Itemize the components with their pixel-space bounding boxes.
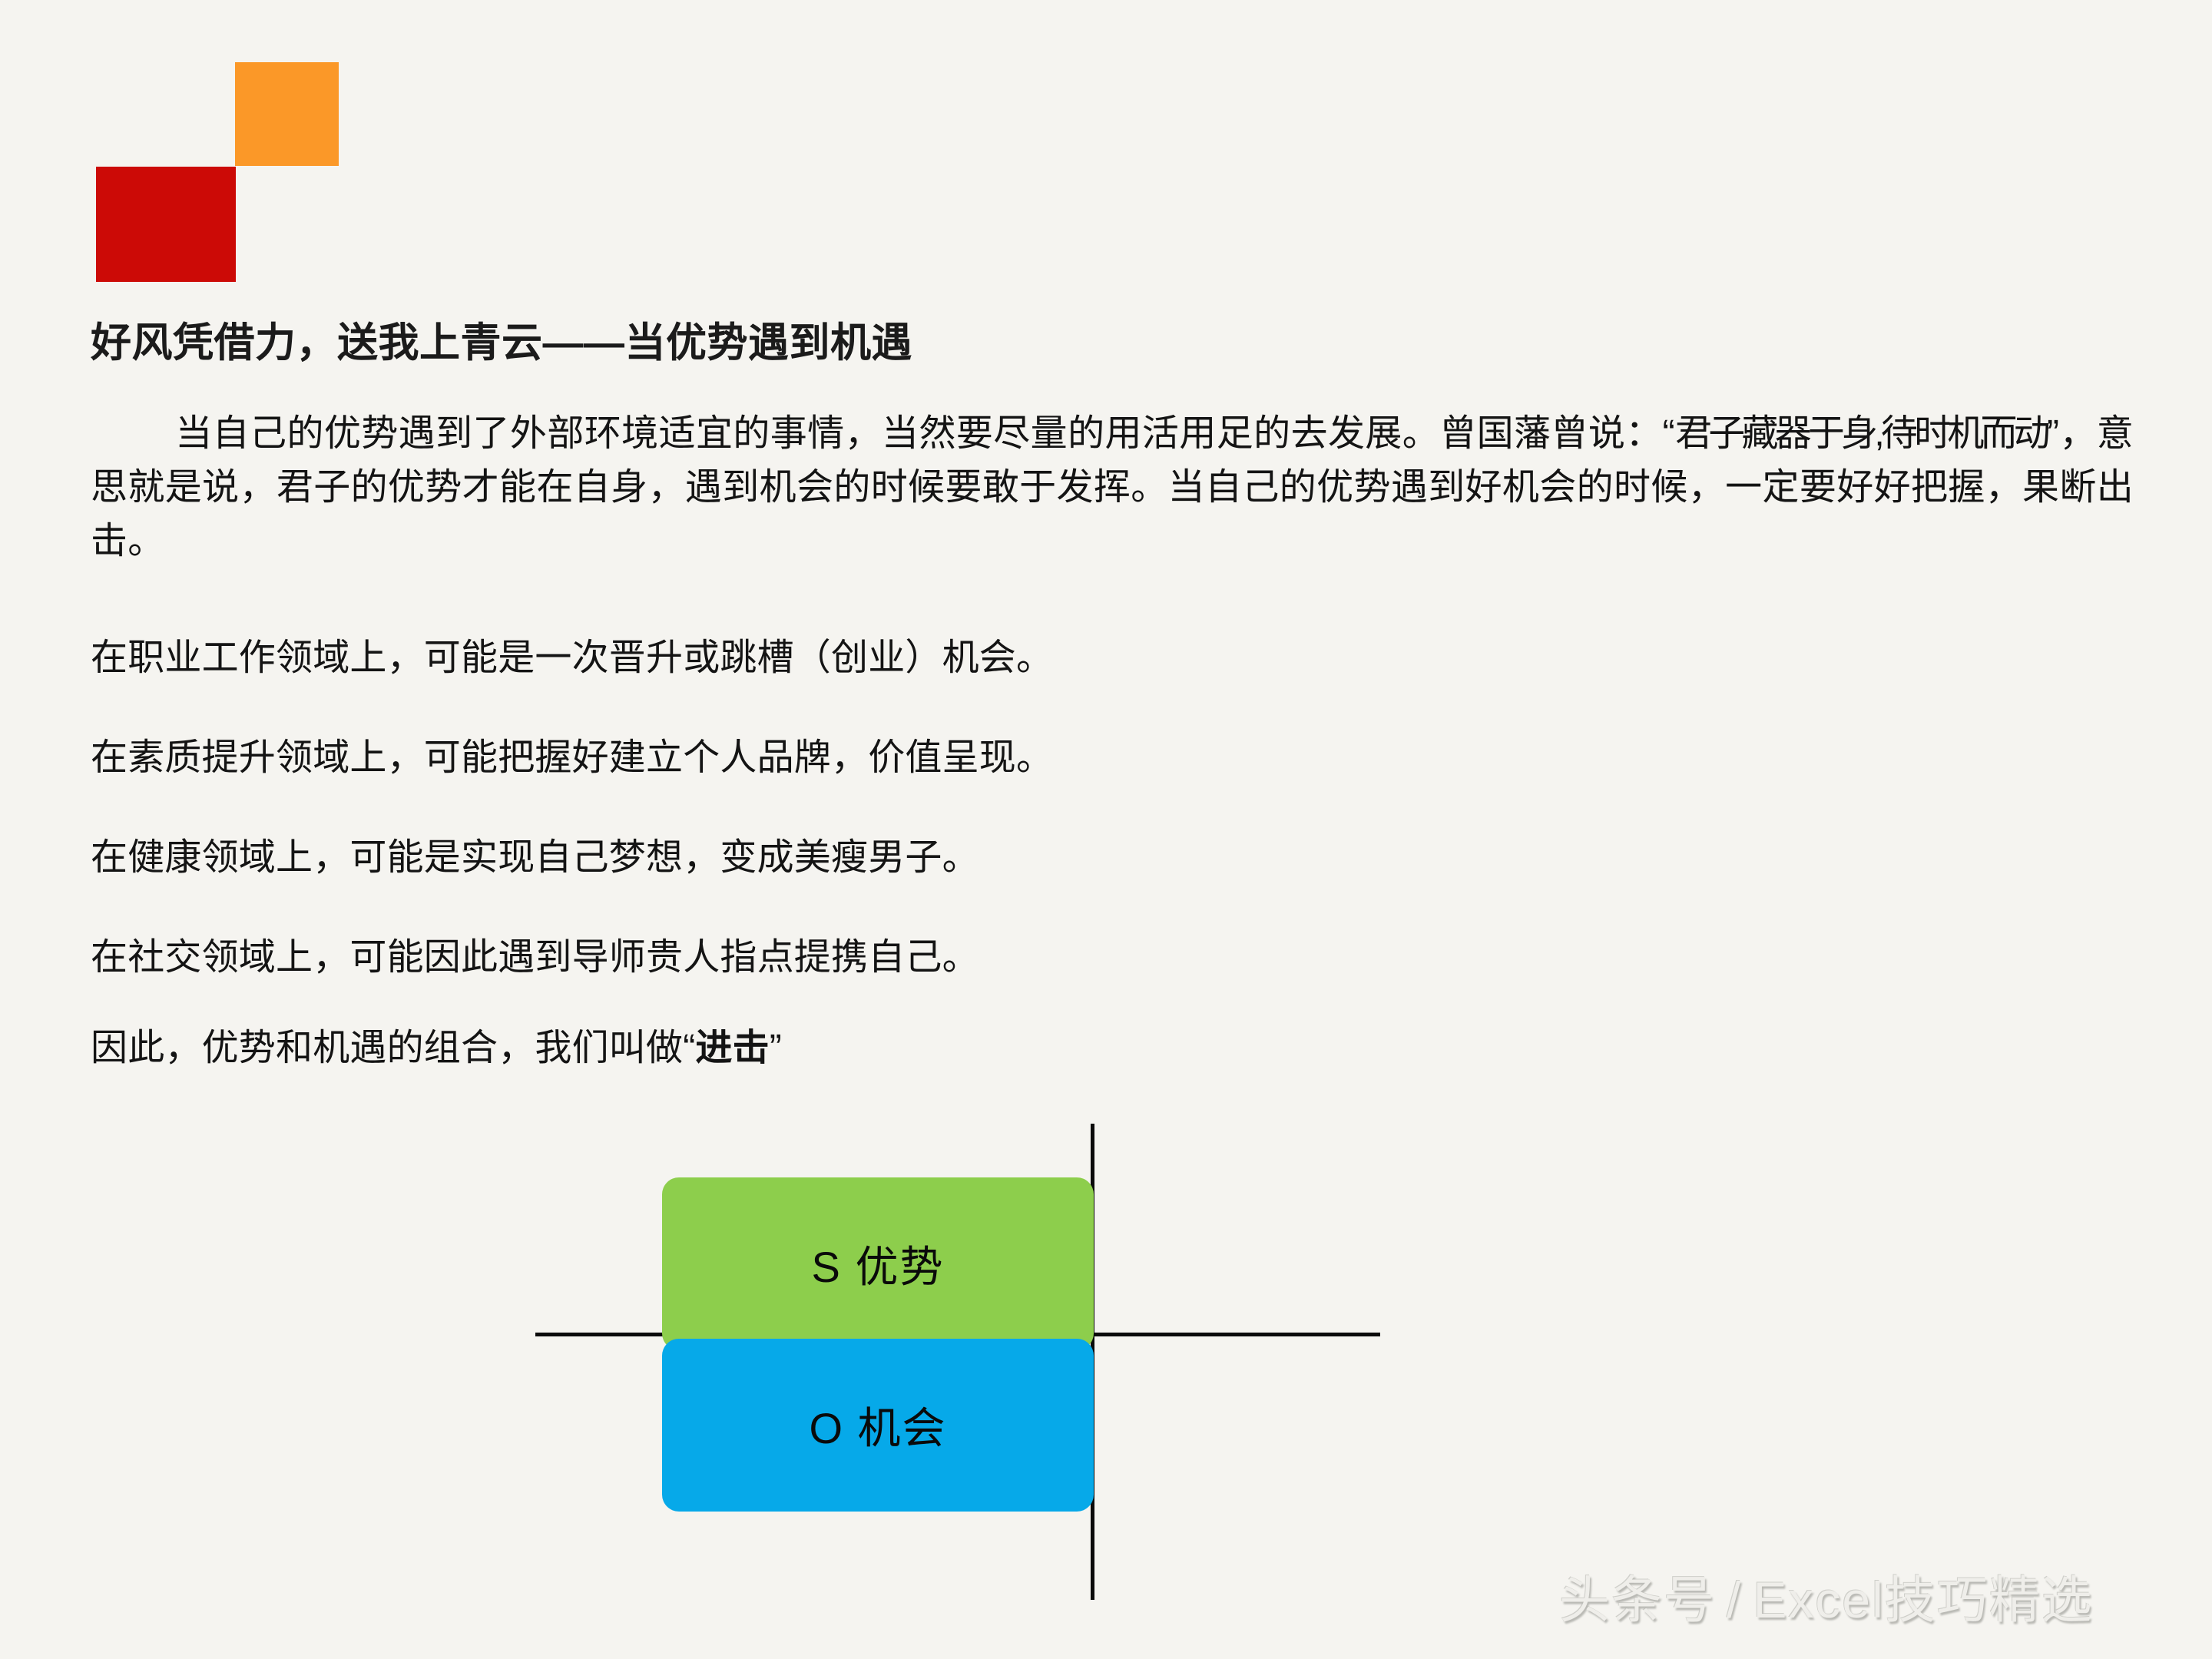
swot-box-opportunity[interactable]: O 机会 <box>662 1339 1094 1512</box>
swot-quadrant-diagram: S 优势 O 机会 <box>461 1098 1767 1628</box>
conclusion-prefix: 因此，优势和机遇的组合，我们叫做“ <box>91 1028 695 1068</box>
body-line-quality: 在素质提升领域上，可能把握好建立个人品牌，价值呈现。 <box>91 731 2126 785</box>
watermark-account: 头条号 <box>1559 1571 1716 1628</box>
body-line-conclusion: 因此，优势和机遇的组合，我们叫做“进击” <box>91 1022 2126 1075</box>
body-line-career: 在职业工作领域上，可能是一次晋升或跳槽（创业）机会。 <box>91 631 2126 685</box>
watermark: 头条号/Excel技巧精选 <box>1559 1559 2094 1633</box>
logo-red-square <box>96 167 236 282</box>
body-line-health: 在健康领域上，可能是实现自己梦想，变成美瘦男子。 <box>91 831 2126 885</box>
logo-orange-square <box>235 62 339 166</box>
body-line-social: 在社交领域上，可能因此遇到导师贵人指点提携自己。 <box>91 931 2126 985</box>
lead-paragraph: 当自己的优势遇到了外部环境适宜的事情，当然要尽量的用活用足的去发展。曾国藩曾说：… <box>91 407 2134 568</box>
watermark-name: Excel技巧精选 <box>1753 1571 2093 1628</box>
swot-box-opportunity-label: O 机会 <box>809 1394 946 1456</box>
watermark-separator: / <box>1716 1571 1753 1628</box>
logo-mark <box>0 0 353 307</box>
swot-box-strength[interactable]: S 优势 <box>662 1177 1094 1350</box>
swot-box-strength-label: S 优势 <box>812 1233 945 1295</box>
lead-text-part1: 当自己的优势遇到了外部环境适宜的事情，当然要尽量的用活用足的去发展。曾国藩曾说：… <box>175 413 1675 454</box>
conclusion-keyword: 进击 <box>695 1028 769 1068</box>
slide-canvas: 好风凭借力，送我上青云——当优势遇到机遇 当自己的优势遇到了外部环境适宜的事情，… <box>0 0 2212 1659</box>
lead-quote-text: 君子藏器于身,待时机而动 <box>1675 413 2047 454</box>
conclusion-suffix: ” <box>770 1028 782 1068</box>
page-title: 好风凭借力，送我上青云——当优势遇到机遇 <box>91 310 912 369</box>
